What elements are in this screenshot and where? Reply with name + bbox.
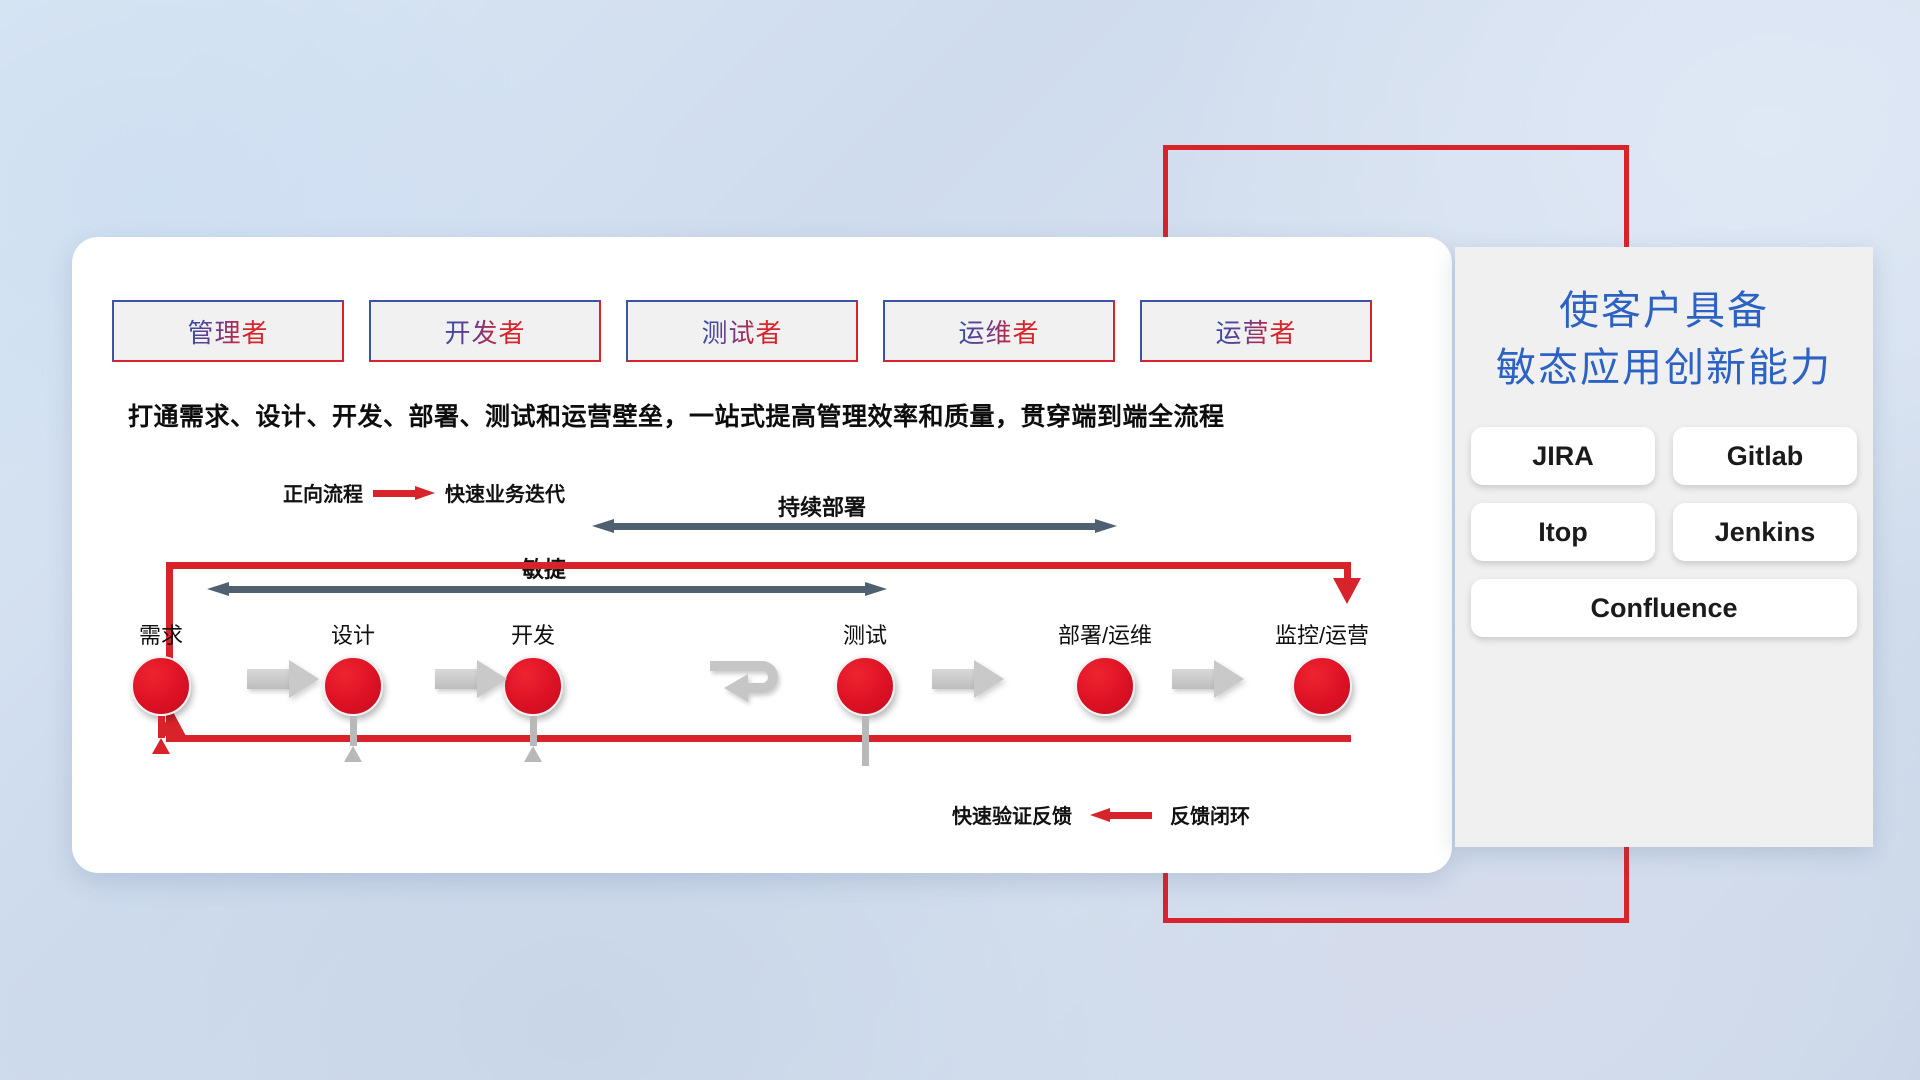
arrow-down-red-icon [1333,578,1361,604]
stage-riser [530,716,537,746]
panel-title-line1: 使客户具备 [1455,283,1873,340]
stage-node-deploy-ops[interactable]: 部署/运维 [1045,618,1165,716]
tool-chip-gitlab[interactable]: Gitlab [1673,427,1857,485]
stage-tick-icon [524,746,542,762]
arrow-body [435,669,480,689]
tool-chip-itop[interactable]: Itop [1471,503,1655,561]
stage-node-testing[interactable]: 测试 [805,618,925,766]
tool-chip-jira[interactable]: JIRA [1471,427,1655,485]
arrow-head-left-icon [207,582,229,596]
arrow-right-red-icon [373,486,435,499]
stage-label: 设计 [293,618,413,650]
measure-arrow-continuous-deployment [592,519,1117,533]
panel-title-line2: 敏态应用创新能力 [1455,340,1873,397]
legend-forward-flow: 正向流程 快速业务迭代 [283,478,565,507]
arrow-head [477,660,507,698]
role-chip-row: 管理者 开发者 测试者 运维者 运营者 [112,300,1372,362]
flow-arrow-right-icon [932,660,1004,698]
iteration-loop-arrow-icon [710,655,810,715]
stage-node-monitor-operations[interactable]: 监控/运营 [1262,618,1382,716]
stage-riser [350,716,357,746]
role-chip-label: 测试者 [701,313,782,350]
legend-feedback-left-label: 快速验证反馈 [952,800,1072,829]
arrow-left-red-icon [1090,808,1152,821]
outer-bracket-bottom [1163,918,1629,923]
stage-label: 测试 [805,618,925,650]
panel-title: 使客户具备 敏态应用创新能力 [1455,283,1873,397]
arrow-head [289,660,319,698]
stage-riser [862,716,869,766]
role-chip-operations-engineer[interactable]: 运维者 [883,300,1115,362]
value-panel: 使客户具备 敏态应用创新能力 JIRA Gitlab Itop Jenkins … [1455,247,1873,847]
role-chip-label: 运维者 [958,313,1039,350]
stage-circle [835,656,895,716]
arrow-body [1172,669,1217,689]
stage-label: 开发 [473,618,593,650]
tool-list: JIRA Gitlab Itop Jenkins Confluence [1471,427,1857,637]
stage-node-requirement[interactable]: 需求 [101,618,221,754]
measure-arrow-agile [207,582,887,596]
arrow-body [247,669,292,689]
outer-bracket-left [1163,145,1168,245]
role-chip-tester[interactable]: 测试者 [626,300,858,362]
flow-arrow-right-icon [435,660,507,698]
stage-circle [131,656,191,716]
flow-arrow-right-icon [247,660,319,698]
role-chip-label: 开发者 [444,313,525,350]
slide-canvas: 管理者 开发者 测试者 运维者 运营者 打通需求、设计、开发、部署、测试和运营壁… [0,0,1920,1080]
arrow-head-right-icon [1095,519,1117,533]
legend-forward-right-label: 快速业务迭代 [445,478,565,507]
role-chip-developer[interactable]: 开发者 [369,300,601,362]
stage-circle [1292,656,1352,716]
legend-feedback-loop: 快速验证反馈 反馈闭环 [952,800,1250,829]
stage-label: 部署/运维 [1045,618,1165,650]
legend-feedback-right-label: 反馈闭环 [1170,800,1250,829]
arrow-head [974,660,1004,698]
stage-riser [158,716,165,738]
arrow-head-right-icon [865,582,887,596]
outer-bracket-top [1163,145,1629,150]
stage-label: 需求 [101,618,221,650]
stage-circle [1075,656,1135,716]
feedback-loop-top [166,562,1351,569]
arrow-head-left-icon [592,519,614,533]
tool-chip-jenkins[interactable]: Jenkins [1673,503,1857,561]
measure-label-continuous-deployment: 持续部署 [778,490,866,522]
role-chip-label: 管理者 [187,313,268,350]
stage-tick-icon [152,738,170,754]
description-text: 打通需求、设计、开发、部署、测试和运营壁垒，一站式提高管理效率和质量，贯穿端到端… [128,397,1428,433]
arrow-body [932,669,977,689]
arrow-bar [227,586,867,593]
stage-label: 监控/运营 [1262,618,1382,650]
role-chip-operator[interactable]: 运营者 [1140,300,1372,362]
tool-chip-confluence[interactable]: Confluence [1471,579,1857,637]
legend-forward-left-label: 正向流程 [283,478,363,507]
flow-arrow-right-icon [1172,660,1244,698]
arrow-bar [612,523,1097,530]
role-chip-manager[interactable]: 管理者 [112,300,344,362]
stage-circle [503,656,563,716]
role-chip-label: 运营者 [1215,313,1296,350]
stage-circle [323,656,383,716]
stage-tick-icon [344,746,362,762]
arrow-head [1214,660,1244,698]
